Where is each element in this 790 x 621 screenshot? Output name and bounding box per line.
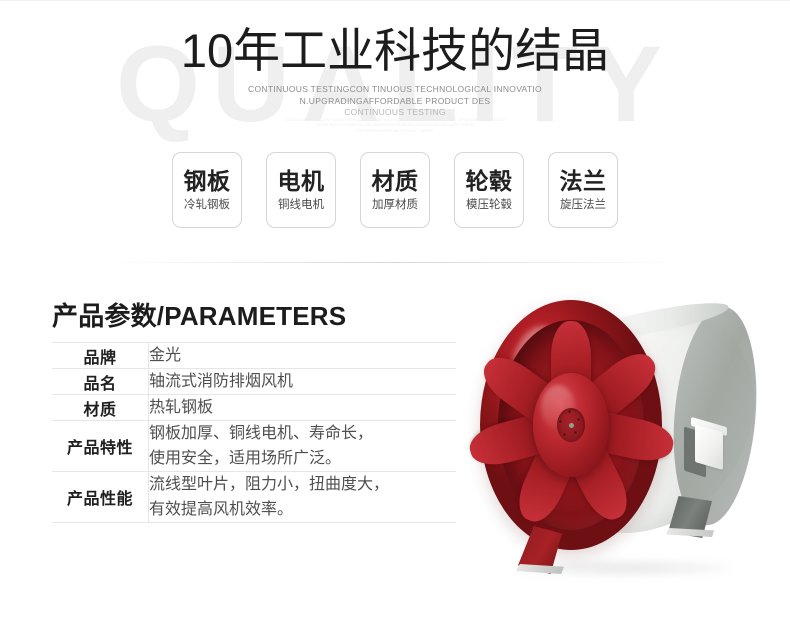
feature-badge-subtitle: 模压轮毂 [466, 197, 512, 213]
table-row: 品牌 金光 [52, 343, 456, 369]
fan-hub-bolt-plate [557, 408, 585, 442]
hero-subtitle: CONTINUOUS TESTINGCON TINUOUS TECHNOLOGI… [0, 84, 790, 119]
hero-subtitle-line-2: N.UPGRADINGAFFORDABLE PRODUCT DES [0, 96, 790, 108]
fan-hub-bolt [563, 433, 566, 436]
parameter-value: 金光 [149, 343, 457, 369]
hero-section: QUALITY 10年工业科技的结晶 CONTINUOUS TESTINGCON… [0, 0, 790, 250]
feature-badge-flange[interactable]: 法兰 旋压法兰 [548, 152, 618, 228]
parameters-title: 产品参数/PARAMETERS [52, 300, 456, 332]
feature-badge-title: 法兰 [560, 167, 607, 195]
fan-illustration [462, 288, 790, 593]
parameter-value: 钢板加厚、铜线电机、寿命长， 使用安全，适用场所广泛。 [149, 421, 457, 472]
parameter-value-line: 有效提高风机效率。 [149, 497, 456, 522]
fan-hub-center-bolt [569, 423, 574, 428]
parameter-key: 产品性能 [52, 472, 149, 523]
table-row: 品名 轴流式消防排烟风机 [52, 369, 456, 395]
hero-subtitle-line-3: CONTINUOUS TESTING [0, 107, 790, 119]
parameter-value-line: 钢板加厚、铜线电机、寿命长， [149, 421, 456, 446]
feature-badge-subtitle: 加厚材质 [372, 197, 418, 213]
feature-badge-subtitle: 旋压法兰 [560, 197, 606, 213]
parameter-key: 产品特性 [52, 421, 149, 472]
feature-badge-title: 材质 [372, 167, 419, 195]
parameter-value-line: 金光 [149, 343, 456, 368]
feature-badge-list: 钢板 冷轧钢板 电机 铜线电机 材质 加厚材质 轮毂 模压轮毂 法兰 旋压法兰 [0, 152, 790, 228]
parameter-key: 材质 [52, 395, 149, 421]
parameter-value: 流线型叶片，阻力小，扭曲度大， 有效提高风机效率。 [149, 472, 457, 523]
section-divider [110, 262, 680, 263]
fan-mounting-foot-rear-edge [666, 528, 714, 537]
fan-hub-bolt [574, 431, 577, 434]
feature-badge-motor[interactable]: 电机 铜线电机 [266, 152, 336, 228]
table-row: 产品特性 钢板加厚、铜线电机、寿命长， 使用安全，适用场所广泛。 [52, 421, 456, 472]
feature-badge-material[interactable]: 材质 加厚材质 [360, 152, 430, 228]
product-image-axial-fan [462, 288, 790, 593]
feature-badge-subtitle: 冷轧钢板 [184, 197, 230, 213]
feature-badge-hub[interactable]: 轮毂 模压轮毂 [454, 152, 524, 228]
parameter-key: 品名 [52, 369, 149, 395]
fan-hub-bolt [559, 420, 562, 423]
feature-badge-subtitle: 铜线电机 [278, 197, 324, 213]
fan-junction-box [695, 424, 723, 470]
hero-subtitle-line-1: CONTINUOUS TESTINGCON TINUOUS TECHNOLOGI… [0, 84, 790, 96]
fan-impeller [498, 320, 644, 530]
feature-badge-title: 轮毂 [466, 167, 513, 195]
hero-micro-line-3: N.UPGRADINGAFFORDABLE PRODUCT DESIGN [0, 129, 790, 134]
hero-title: 10年工业科技的结晶 [0, 22, 790, 80]
parameters-section: 产品参数/PARAMETERS 品牌 金光 品名 轴流式消防排烟风机 材质 [52, 300, 456, 523]
parameter-value-line: 流线型叶片，阻力小，扭曲度大， [149, 472, 456, 497]
parameter-value: 轴流式消防排烟风机 [149, 369, 457, 395]
parameter-value-line: 使用安全，适用场所广泛。 [149, 446, 456, 471]
table-row: 产品性能 流线型叶片，阻力小，扭曲度大， 有效提高风机效率。 [52, 472, 456, 523]
parameter-key: 品牌 [52, 343, 149, 369]
parameter-value-line: 热轧钢板 [149, 395, 456, 420]
hero-micro-text: CONTINUOUS TESTINGCON TINUOUS TECHNOLOGI… [0, 118, 790, 134]
feature-badge-steel-plate[interactable]: 钢板 冷轧钢板 [172, 152, 242, 228]
fan-hub-bolt [577, 418, 580, 421]
product-detail-page: QUALITY 10年工业科技的结晶 CONTINUOUS TESTINGCON… [0, 0, 790, 621]
parameter-value-line: 轴流式消防排烟风机 [149, 369, 456, 394]
feature-badge-title: 电机 [278, 167, 325, 195]
feature-badge-title: 钢板 [184, 167, 231, 195]
parameters-table: 品牌 金光 品名 轴流式消防排烟风机 材质 热轧钢板 [52, 342, 456, 523]
parameter-value: 热轧钢板 [149, 395, 457, 421]
fan-hub-bolt [568, 410, 571, 413]
table-row: 材质 热轧钢板 [52, 395, 456, 421]
